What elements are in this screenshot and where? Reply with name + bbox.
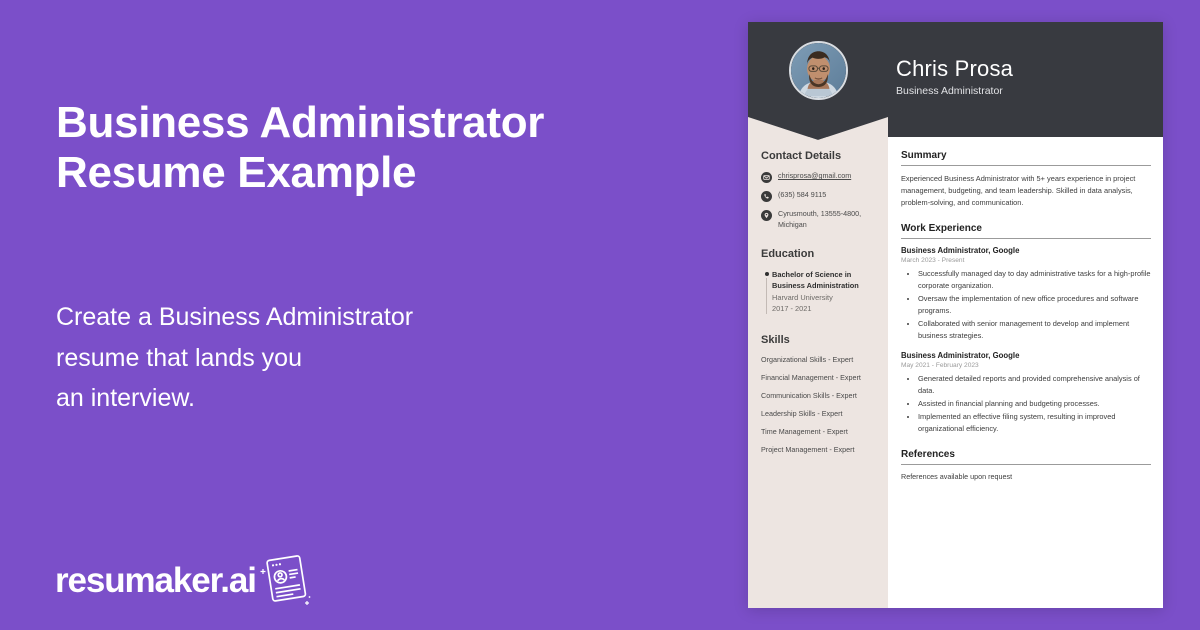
contact-phone-value: (635) 584 9115 — [778, 190, 826, 201]
skill-item: Financial Management - Expert — [761, 373, 879, 382]
job-bullet: Implemented an effective filing system, … — [918, 411, 1151, 435]
skill-item: Communication Skills - Expert — [761, 391, 879, 400]
promo-panel: Business Administrator Resume Example Cr… — [0, 0, 745, 630]
promo-subtext: Create a Business Administrator resume t… — [56, 297, 616, 419]
job-title: Business Administrator, Google — [901, 246, 1151, 255]
skill-item: Leadership Skills - Expert — [761, 409, 879, 418]
skills-heading: Skills — [761, 334, 879, 346]
education-degree: Bachelor of Science in Business Administ… — [772, 270, 859, 290]
section-divider — [901, 238, 1151, 239]
education-item: Bachelor of Science in Business Administ… — [761, 269, 879, 315]
contact-email-value[interactable]: chrisprosa@gmail.com — [778, 171, 851, 182]
references-section: References References available upon req… — [901, 449, 1151, 481]
avatar — [789, 41, 848, 100]
headline-line-2: Resume Example — [56, 148, 676, 198]
resume-preview-card[interactable]: Chris Prosa Business Administrator Conta… — [748, 22, 1163, 608]
phone-icon — [761, 191, 772, 202]
contact-details-section: Contact Details chrisprosa@gmail.com (63… — [761, 150, 879, 231]
resume-name: Chris Prosa — [896, 56, 1013, 82]
contact-item-phone[interactable]: (635) 584 9115 — [761, 190, 879, 202]
work-experience-section: Work Experience Business Administrator, … — [901, 223, 1151, 435]
contact-address-value: Cyrusmouth, 13555-4800, Michigan — [778, 209, 879, 231]
header-chevron-notch — [748, 114, 888, 140]
education-section: Education Bachelor of Science in Busines… — [761, 248, 879, 315]
job-bullet: Generated detailed reports and provided … — [918, 373, 1151, 397]
job-entry: Business Administrator, Google March 202… — [901, 246, 1151, 342]
section-divider — [901, 464, 1151, 465]
location-pin-icon — [761, 210, 772, 221]
headline-line-1: Business Administrator — [56, 98, 676, 148]
job-dates: May 2021 - February 2023 — [901, 362, 1151, 369]
education-school: Harvard University — [772, 293, 833, 302]
work-experience-heading: Work Experience — [901, 223, 1151, 234]
job-bullet: Collaborated with senior management to d… — [918, 318, 1151, 342]
skill-item: Time Management - Expert — [761, 427, 879, 436]
contact-details-heading: Contact Details — [761, 150, 879, 162]
summary-section: Summary Experienced Business Administrat… — [901, 150, 1151, 209]
job-bullet-list: Successfully managed day to day administ… — [901, 268, 1151, 342]
sidebar-content: Contact Details chrisprosa@gmail.com (63… — [761, 150, 879, 454]
references-heading: References — [901, 449, 1151, 460]
logo-wordmark: resumaker.ai — [55, 563, 256, 598]
main-column-content: Summary Experienced Business Administrat… — [901, 150, 1151, 495]
references-text: References available upon request — [901, 472, 1151, 481]
page-title: Business Administrator Resume Example — [56, 98, 676, 198]
summary-text: Experienced Business Administrator with … — [901, 173, 1151, 209]
skills-section: Skills Organizational Skills - Expert Fi… — [761, 334, 879, 454]
job-bullet: Oversaw the implementation of new office… — [918, 293, 1151, 317]
contact-item-address: Cyrusmouth, 13555-4800, Michigan — [761, 209, 879, 231]
document-profile-icon — [260, 552, 312, 608]
subtext-line-1: Create a Business Administrator — [56, 297, 616, 338]
subtext-line-3: an interview. — [56, 378, 616, 419]
resume-role: Business Administrator — [896, 85, 1003, 97]
section-divider — [901, 165, 1151, 166]
job-bullet: Successfully managed day to day administ… — [918, 268, 1151, 292]
contact-item-email[interactable]: chrisprosa@gmail.com — [761, 171, 879, 183]
job-bullet: Assisted in financial planning and budge… — [918, 398, 1151, 410]
resumaker-logo[interactable]: resumaker.ai — [55, 552, 312, 608]
job-entry: Business Administrator, Google May 2021 … — [901, 351, 1151, 435]
job-dates: March 2023 - Present — [901, 257, 1151, 264]
summary-heading: Summary — [901, 150, 1151, 161]
envelope-icon — [761, 172, 772, 183]
job-title: Business Administrator, Google — [901, 351, 1151, 360]
job-bullet-list: Generated detailed reports and provided … — [901, 373, 1151, 435]
skill-item: Organizational Skills - Expert — [761, 355, 879, 364]
subtext-line-2: resume that lands you — [56, 338, 616, 379]
education-years: 2017 - 2021 — [772, 304, 811, 313]
education-bullet-marker — [761, 269, 772, 315]
skill-item: Project Management - Expert — [761, 445, 879, 454]
education-heading: Education — [761, 248, 879, 260]
